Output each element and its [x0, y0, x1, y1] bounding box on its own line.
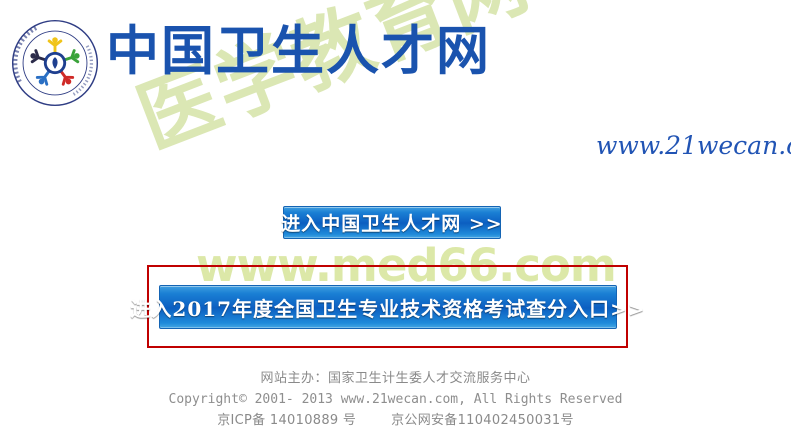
page-title: 中国卫生人才网: [106, 20, 491, 82]
site-logo-emblem-icon: [10, 18, 100, 108]
footer-record-line: 京ICP备 14010889 号 京公网安备110402450031号: [0, 410, 791, 431]
footer-police-record-number: 京公网安备110402450031号: [391, 413, 574, 428]
footer-copyright-line: Copyright© 2001- 2013 www.21wecan.com, A…: [0, 389, 791, 410]
site-url-text: www.21wecan.com: [596, 131, 791, 161]
landing-page: 医学教育网 www.med66.com: [0, 0, 791, 440]
footer: 网站主办：国家卫生计生委人才交流服务中心 Copyright© 2001- 20…: [0, 368, 791, 431]
exam-score-query-entry-button[interactable]: 进入2017年度全国卫生专业技术资格考试查分入口>>: [159, 285, 617, 329]
footer-icp-number: 京ICP备 14010889 号: [217, 413, 356, 428]
footer-host-line: 网站主办：国家卫生计生委人才交流服务中心: [0, 368, 791, 389]
enter-main-site-button[interactable]: 进入中国卫生人才网 >>: [283, 206, 501, 239]
content-layer: 中国卫生人才网 www.21wecan.com 进入中国卫生人才网 >> 进入2…: [0, 0, 791, 440]
